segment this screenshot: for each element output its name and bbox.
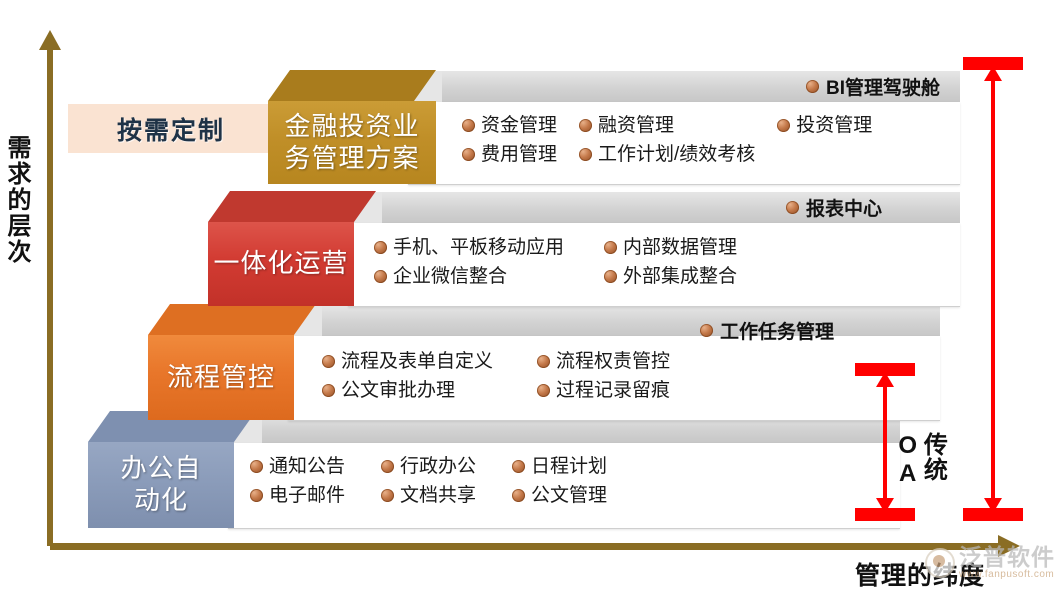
tier-integration-cube-face: 一体化运营 xyxy=(208,222,354,306)
tier-finance-header-feature: BI管理驾驶舱 xyxy=(806,73,940,100)
tier-process-title: 流程管控 xyxy=(148,362,294,394)
tier-integration-cube-top xyxy=(208,191,376,222)
feature-item: 内部数据管理 xyxy=(604,236,737,260)
feature-item: 投资管理 xyxy=(777,114,872,138)
feature-label: 资金管理 xyxy=(481,114,557,138)
tier-finance-cube-top xyxy=(268,70,436,101)
bullet-icon xyxy=(579,148,592,161)
feature-item: 公文管理 xyxy=(512,484,607,508)
tier-integration-header-feature: 报表中心 xyxy=(786,194,882,221)
bullet-icon xyxy=(250,460,263,473)
bullet-icon xyxy=(462,119,475,132)
vertical-axis-line xyxy=(47,46,53,546)
feature-item: 融资管理 xyxy=(579,114,755,138)
feature-label: 手机、平板移动应用 xyxy=(393,236,564,260)
bullet-icon xyxy=(806,80,819,93)
tier-oa-cube-face: 办公自动化 xyxy=(88,442,234,528)
feature-label: 过程记录留痕 xyxy=(556,379,670,403)
measure-fanpu-shaft xyxy=(991,70,995,510)
feature-item: 文档共享 xyxy=(381,484,476,508)
tier-oa-title: 办公自动化 xyxy=(88,453,234,516)
feature-item: 通知公告 xyxy=(250,455,345,479)
feature-item: 资金管理 xyxy=(462,114,557,138)
bullet-icon xyxy=(381,489,394,502)
tier-process-cube-top xyxy=(148,304,316,335)
feature-label: 电子邮件 xyxy=(269,484,345,508)
tier-finance-features: 资金管理费用管理 融资管理工作计划/绩效考核 投资管理 xyxy=(462,114,872,167)
feature-item: 日程计划 xyxy=(512,455,607,479)
measure-traditional-oa-shaft xyxy=(883,376,887,510)
tier-oa-feature-col-2: 日程计划公文管理 xyxy=(512,455,607,508)
bullet-icon xyxy=(579,119,592,132)
bullet-icon xyxy=(374,241,387,254)
tier-finance-feature-col-2: 投资管理 xyxy=(777,114,872,167)
on-demand-banner: 按需定制 xyxy=(68,104,274,153)
bullet-icon xyxy=(250,489,263,502)
bullet-icon xyxy=(604,241,617,254)
feature-item: 电子邮件 xyxy=(250,484,345,508)
tier-oa-feature-col-1: 行政办公文档共享 xyxy=(381,455,476,508)
tier-process-shelf xyxy=(288,305,940,337)
horizontal-axis-label: 管理的纬度 xyxy=(855,556,985,592)
bullet-icon xyxy=(381,460,394,473)
tier-finance-title: 金融投资业务管理方案 xyxy=(268,111,436,174)
feature-item: 流程及表单自定义 xyxy=(322,350,493,374)
diagram-canvas: 需求的层次 管理的纬度 按需定制 办公自动化 通知公告电子邮件 行政办公文档共享… xyxy=(0,0,1060,594)
bullet-icon xyxy=(537,355,550,368)
bullet-icon xyxy=(604,270,617,283)
bullet-icon xyxy=(786,201,799,214)
feature-label: 费用管理 xyxy=(481,143,557,167)
horizontal-axis-arrow-icon xyxy=(998,535,1020,557)
feature-item: 公文审批办理 xyxy=(322,379,493,403)
measure-traditional-oa-bottom-cap xyxy=(855,508,915,521)
feature-label: 流程及表单自定义 xyxy=(341,350,493,374)
feature-label: 企业微信整合 xyxy=(393,265,507,289)
feature-item: 费用管理 xyxy=(462,143,557,167)
feature-label: 内部数据管理 xyxy=(623,236,737,260)
on-demand-banner-label: 按需定制 xyxy=(117,111,225,147)
tier-oa-features: 通知公告电子邮件 行政办公文档共享 日程计划公文管理 xyxy=(250,455,607,508)
measure-fanpu-bottom-cap xyxy=(963,508,1023,521)
tier-process-features: 流程及表单自定义公文审批办理 流程权责管控过程记录留痕 xyxy=(322,350,670,403)
feature-item: 企业微信整合 xyxy=(374,265,564,289)
feature-label: 公文管理 xyxy=(531,484,607,508)
tier-finance-cube-face: 金融投资业务管理方案 xyxy=(268,101,436,184)
feature-item: 行政办公 xyxy=(381,455,476,479)
feature-label: 文档共享 xyxy=(400,484,476,508)
feature-item: 手机、平板移动应用 xyxy=(374,236,564,260)
feature-item: 外部集成整合 xyxy=(604,265,737,289)
bullet-icon xyxy=(374,270,387,283)
feature-label: 融资管理 xyxy=(598,114,674,138)
tier-process-feature-col-0: 流程及表单自定义公文审批办理 xyxy=(322,350,493,403)
feature-label: 行政办公 xyxy=(400,455,476,479)
bullet-icon xyxy=(512,460,525,473)
horizontal-axis-line xyxy=(50,543,1005,550)
tier-process-header-feature: 工作任务管理 xyxy=(700,317,834,344)
vertical-axis-label: 需求的层次 xyxy=(4,135,28,265)
tier-process-cube-face: 流程管控 xyxy=(148,335,294,420)
bullet-icon xyxy=(700,324,713,337)
tier-integration-header-feature-label: 报表中心 xyxy=(806,194,882,221)
tier-oa-feature-col-0: 通知公告电子邮件 xyxy=(250,455,345,508)
tier-integration-features: 手机、平板移动应用企业微信整合 内部数据管理外部集成整合 xyxy=(374,236,737,289)
tier-process-header-feature-label: 工作任务管理 xyxy=(720,317,834,344)
tier-integration-title: 一体化运营 xyxy=(208,248,354,280)
bullet-icon xyxy=(537,384,550,397)
tier-finance-header-feature-label: BI管理驾驶舱 xyxy=(826,73,940,100)
bullet-icon xyxy=(322,355,335,368)
feature-label: 外部集成整合 xyxy=(623,265,737,289)
feature-label: 日程计划 xyxy=(531,455,607,479)
measure-traditional-oa-label: 传统OA xyxy=(895,432,945,488)
feature-label: 公文审批办理 xyxy=(341,379,455,403)
feature-label: 工作计划/绩效考核 xyxy=(598,143,755,167)
tier-integration-feature-col-0: 手机、平板移动应用企业微信整合 xyxy=(374,236,564,289)
tier-finance-feature-col-1: 融资管理工作计划/绩效考核 xyxy=(579,114,755,167)
feature-item: 工作计划/绩效考核 xyxy=(579,143,755,167)
feature-label: 投资管理 xyxy=(796,114,872,138)
feature-label: 流程权责管控 xyxy=(556,350,670,374)
tier-finance-feature-col-0: 资金管理费用管理 xyxy=(462,114,557,167)
tier-process-feature-col-1: 流程权责管控过程记录留痕 xyxy=(537,350,670,403)
bullet-icon xyxy=(322,384,335,397)
bullet-icon xyxy=(462,148,475,161)
feature-item: 过程记录留痕 xyxy=(537,379,670,403)
bullet-icon xyxy=(777,119,790,132)
bullet-icon xyxy=(512,489,525,502)
feature-item: 流程权责管控 xyxy=(537,350,670,374)
tier-integration-feature-col-1: 内部数据管理外部集成整合 xyxy=(604,236,737,289)
feature-label: 通知公告 xyxy=(269,455,345,479)
